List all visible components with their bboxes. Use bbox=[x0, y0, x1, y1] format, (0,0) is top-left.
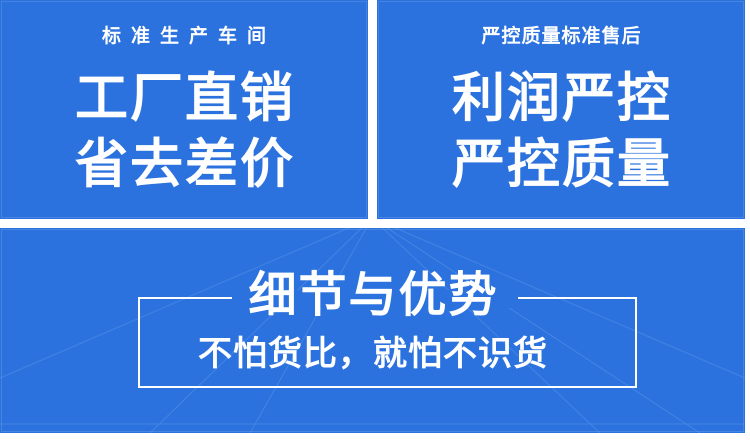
panel-left-headline-line1: 工厂直销 bbox=[0, 72, 368, 125]
panel-right-eyebrow: 严控质量标准售后 bbox=[377, 27, 745, 46]
panel-left-eyebrow: 标准生产车间 bbox=[0, 27, 368, 46]
bottom-panel-title: 细节与优势 bbox=[0, 272, 745, 320]
panel-left-headline-line2: 省去差价 bbox=[0, 138, 368, 191]
diagonal-rays-watermark bbox=[0, 228, 745, 433]
panel-right-headline-line2: 严控质量 bbox=[377, 138, 745, 191]
panel-factory-direct: 标准生产车间 工厂直销 省去差价 bbox=[0, 0, 368, 219]
bottom-panel-subtitle: 不怕货比，就怕不识货 bbox=[0, 337, 745, 371]
panel-quality-control: 严控质量标准售后 利润严控 严控质量 bbox=[377, 0, 745, 219]
promo-banner: 标准生产车间 工厂直销 省去差价 严控质量标准售后 利润严控 严控质量 细节与优… bbox=[0, 0, 750, 440]
panel-details-advantages: 细节与优势 不怕货比，就怕不识货 bbox=[0, 228, 745, 433]
panel-right-headline-line1: 利润严控 bbox=[377, 72, 745, 125]
